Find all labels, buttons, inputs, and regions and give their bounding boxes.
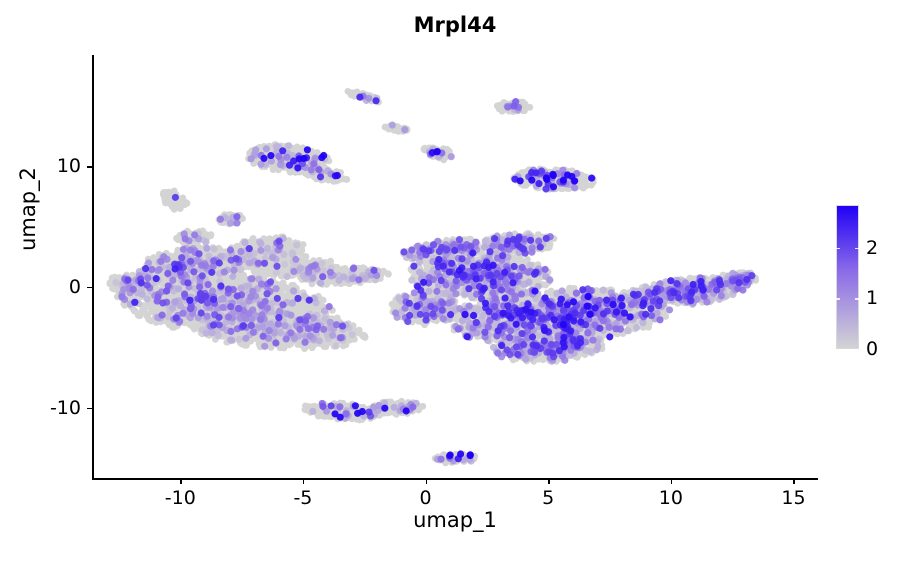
colorbar-tick-mark bbox=[836, 248, 840, 249]
x-tick-label: 5 bbox=[542, 487, 554, 509]
x-tick-label: -5 bbox=[293, 487, 312, 509]
x-tick-mark bbox=[303, 479, 305, 484]
colorbar-border bbox=[836, 205, 859, 349]
y-tick-label: -10 bbox=[50, 397, 81, 419]
colorbar-tick-label: 1 bbox=[866, 287, 878, 309]
colorbar-tick-mark bbox=[836, 298, 840, 299]
y-tick-mark bbox=[87, 408, 92, 410]
y-tick-mark bbox=[87, 166, 92, 168]
x-tick-label: 0 bbox=[420, 487, 432, 509]
scatter-plot-axes: -10-5051015 -10010 bbox=[92, 55, 818, 479]
colorbar: 012 bbox=[836, 205, 859, 349]
colorbar-tick-mark bbox=[855, 349, 859, 350]
x-tick-label: -10 bbox=[165, 487, 196, 509]
scatter-points-layer bbox=[92, 55, 818, 479]
colorbar-tick-mark bbox=[855, 298, 859, 299]
y-tick-label: 0 bbox=[69, 276, 81, 298]
page-title: Mrpl44 bbox=[92, 13, 818, 37]
x-tick-mark bbox=[671, 479, 673, 484]
x-tick-label: 10 bbox=[659, 487, 683, 509]
x-axis-spine bbox=[92, 478, 818, 480]
x-tick-mark bbox=[180, 479, 182, 484]
y-axis-spine bbox=[92, 55, 94, 479]
colorbar-tick-label: 0 bbox=[866, 338, 878, 360]
colorbar-tick-label: 2 bbox=[866, 237, 878, 259]
colorbar-tick-mark bbox=[855, 248, 859, 249]
figure-canvas: Mrpl44 -10-5051015 -10010 umap_1 umap_2 … bbox=[0, 0, 911, 562]
x-tick-mark bbox=[548, 479, 550, 484]
y-axis-label: umap_2 bbox=[16, 129, 40, 289]
x-tick-label: 15 bbox=[781, 487, 805, 509]
y-tick-label: 10 bbox=[57, 155, 81, 177]
colorbar-tick-mark bbox=[836, 349, 840, 350]
x-axis-label: umap_1 bbox=[92, 508, 818, 532]
x-tick-mark bbox=[426, 479, 428, 484]
y-tick-mark bbox=[87, 287, 92, 289]
x-tick-mark bbox=[793, 479, 795, 484]
